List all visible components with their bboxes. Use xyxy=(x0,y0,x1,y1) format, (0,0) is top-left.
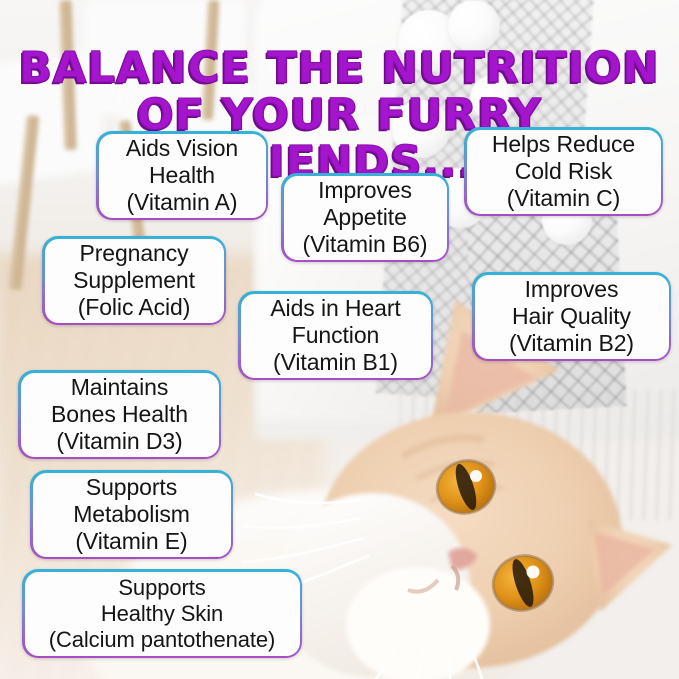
callout-text: Supports Healthy Skin (Calcium pantothen… xyxy=(49,575,275,653)
callout-text: Pregnancy Supplement (Folic Acid) xyxy=(73,240,195,321)
callout-text: Aids Vision Health (Vitamin A) xyxy=(126,135,238,216)
callout-vitamin-b1[interactable]: Aids in Heart Function (Vitamin B1) xyxy=(238,291,433,380)
callout-body: Aids in Heart Function (Vitamin B1) xyxy=(241,294,431,378)
callout-calcium-pantothenate[interactable]: Supports Healthy Skin (Calcium pantothen… xyxy=(22,569,302,658)
callout-text: Aids in Heart Function (Vitamin B1) xyxy=(270,295,400,376)
callout-vitamin-b2[interactable]: Improves Hair Quality (Vitamin B2) xyxy=(472,272,671,361)
callout-vitamin-b6[interactable]: Improves Appetite (Vitamin B6) xyxy=(281,173,449,262)
callout-text: Supports Metabolism (Vitamin E) xyxy=(73,474,190,555)
callout-body: Supports Healthy Skin (Calcium pantothen… xyxy=(25,572,300,656)
callout-body: Helps Reduce Cold Risk (Vitamin C) xyxy=(467,130,661,214)
infographic-poster: Balance the nutrition of your furry frie… xyxy=(0,0,679,679)
callout-body: Improves Appetite (Vitamin B6) xyxy=(284,176,447,260)
callout-body: Aids Vision Health (Vitamin A) xyxy=(99,134,266,218)
callout-body: Pregnancy Supplement (Folic Acid) xyxy=(45,239,224,323)
callout-text: Maintains Bones Health (Vitamin D3) xyxy=(51,374,188,455)
callout-text: Improves Appetite (Vitamin B6) xyxy=(303,177,428,258)
callout-vitamin-a[interactable]: Aids Vision Health (Vitamin A) xyxy=(96,131,268,220)
callout-folic-acid[interactable]: Pregnancy Supplement (Folic Acid) xyxy=(42,236,226,325)
callout-body: Improves Hair Quality (Vitamin B2) xyxy=(475,275,669,359)
callout-vitamin-e[interactable]: Supports Metabolism (Vitamin E) xyxy=(30,470,233,559)
callout-body: Supports Metabolism (Vitamin E) xyxy=(33,473,231,557)
callout-vitamin-c[interactable]: Helps Reduce Cold Risk (Vitamin C) xyxy=(464,127,663,216)
callout-vitamin-d3[interactable]: Maintains Bones Health (Vitamin D3) xyxy=(18,370,221,459)
callout-text: Helps Reduce Cold Risk (Vitamin C) xyxy=(492,131,635,212)
callout-text: Improves Hair Quality (Vitamin B2) xyxy=(509,276,634,357)
callout-body: Maintains Bones Health (Vitamin D3) xyxy=(21,373,219,457)
